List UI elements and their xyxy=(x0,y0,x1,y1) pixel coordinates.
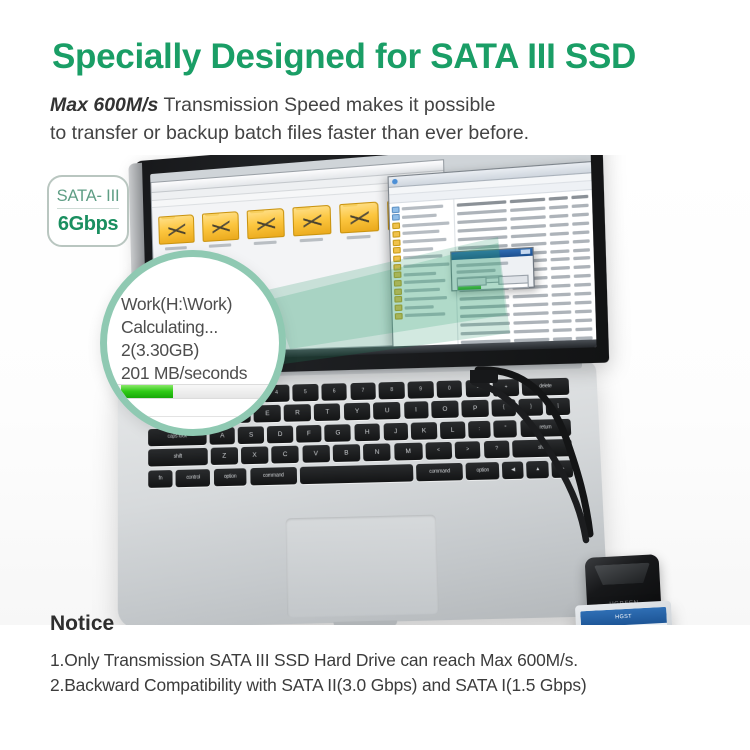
key-m[interactable]: M xyxy=(394,443,423,461)
hdd-label: HGST xyxy=(580,607,671,625)
cell-type xyxy=(575,318,592,322)
magnifier-loupe: Work(H:\Work) Calculating... 2(3.30GB) 2… xyxy=(100,250,286,436)
key-f[interactable]: F xyxy=(296,425,322,443)
cell-type xyxy=(572,230,589,234)
transfer-path: Work(H:\Work) xyxy=(121,293,273,316)
cell-size xyxy=(549,214,568,219)
cell-size xyxy=(551,275,570,279)
cell-size xyxy=(552,293,571,297)
transfer-progress-fill xyxy=(121,385,173,398)
key-v[interactable]: V xyxy=(302,445,330,463)
key-comma[interactable]: < xyxy=(425,442,451,460)
cell-type xyxy=(574,292,591,296)
key-control[interactable]: control xyxy=(176,469,211,487)
sata-hard-drive: HGST xyxy=(575,601,677,625)
key-d[interactable]: D xyxy=(267,425,293,443)
key-g[interactable]: G xyxy=(324,424,351,442)
cell-type xyxy=(572,221,589,225)
key-n[interactable]: N xyxy=(363,444,391,462)
product-feature-page: Specially Designed for SATA III SSD Max … xyxy=(0,0,750,750)
key-z[interactable]: Z xyxy=(211,447,238,465)
cell-type xyxy=(573,257,590,261)
key-space[interactable] xyxy=(300,464,414,484)
cell-size xyxy=(552,301,571,305)
cell-size xyxy=(552,319,571,323)
transfer-size: 2(3.30GB) xyxy=(121,339,273,362)
cell-type xyxy=(574,274,591,278)
key-k[interactable]: K xyxy=(411,422,437,440)
cell-type xyxy=(574,283,591,287)
page-title: Specially Designed for SATA III SSD xyxy=(52,38,712,77)
cell-date xyxy=(510,207,545,213)
cell-size xyxy=(550,249,569,253)
cell-date xyxy=(514,311,549,316)
cell-date xyxy=(511,215,546,220)
cell-type xyxy=(573,248,590,252)
key-shift-left[interactable]: shift xyxy=(148,448,207,467)
column-size xyxy=(549,196,568,201)
hdd-brand-strip: HGST xyxy=(580,607,667,625)
sata-iii-badge: SATA- III 6Gbps xyxy=(47,175,129,247)
cell-type xyxy=(575,309,592,313)
hdd-brand-label: HGST xyxy=(580,607,667,625)
subtitle-line2: to transfer or backup batch files faster… xyxy=(50,122,529,144)
close-icon[interactable] xyxy=(521,249,531,254)
cell-date xyxy=(513,294,548,299)
cell-type xyxy=(574,300,591,304)
laptop-trackpad[interactable] xyxy=(286,515,439,618)
tree-label xyxy=(402,205,443,211)
column-name xyxy=(457,200,507,207)
cell-size xyxy=(551,284,570,288)
cell-size xyxy=(550,240,569,244)
cell-type xyxy=(573,239,590,243)
cell-date xyxy=(511,224,546,229)
cell-size xyxy=(552,310,571,314)
notice-item-2: 2.Backward Compatibility with SATA II(3.… xyxy=(50,675,587,696)
cell-date xyxy=(511,241,546,246)
cell-size xyxy=(551,266,570,270)
cell-size xyxy=(549,223,568,227)
key-j[interactable]: J xyxy=(383,423,408,441)
key-x[interactable]: X xyxy=(241,447,269,465)
cell-size xyxy=(549,205,568,210)
key-command-right[interactable]: command xyxy=(416,462,463,480)
badge-speed-label: 6Gbps xyxy=(58,209,118,234)
cell-size xyxy=(550,258,569,262)
notice-item-1: 1.Only Transmission SATA III SSD Hard Dr… xyxy=(50,650,578,671)
key-s[interactable]: S xyxy=(238,426,264,444)
key-fn[interactable]: fn xyxy=(148,470,173,488)
badge-standard-label: SATA- III xyxy=(57,188,120,209)
transfer-speed: 201 MB/seconds xyxy=(121,362,273,385)
key-command-left[interactable]: command xyxy=(250,467,297,485)
column-date xyxy=(510,198,545,204)
key-option-left[interactable]: option xyxy=(214,468,247,486)
column-type xyxy=(571,195,588,200)
cell-type xyxy=(572,213,589,217)
cell-date xyxy=(514,320,549,325)
transfer-dialog-text: Work(H:\Work) Calculating... 2(3.30GB) 2… xyxy=(121,293,273,385)
key-l[interactable]: L xyxy=(440,421,465,439)
loupe-divider xyxy=(100,416,285,417)
transfer-progress-bar xyxy=(100,384,285,399)
drive-icon xyxy=(392,206,400,213)
subtitle: Max 600M/s Transmission Speed makes it p… xyxy=(50,92,690,147)
transfer-status: Calculating... xyxy=(121,316,273,339)
cell-type xyxy=(573,265,590,269)
laptop-front-lip xyxy=(334,620,398,625)
notice-heading: Notice xyxy=(50,612,114,636)
cell-date xyxy=(513,302,548,307)
cell-type xyxy=(572,204,589,208)
key-b[interactable]: B xyxy=(332,444,360,462)
key-h[interactable]: H xyxy=(354,423,380,441)
cell-size xyxy=(550,231,569,235)
key-c[interactable]: C xyxy=(271,446,299,464)
subtitle-rest: Transmission Speed makes it possible xyxy=(158,94,495,116)
subtitle-emphasis: Max 600M/s xyxy=(50,94,158,116)
cell-date xyxy=(511,233,546,238)
